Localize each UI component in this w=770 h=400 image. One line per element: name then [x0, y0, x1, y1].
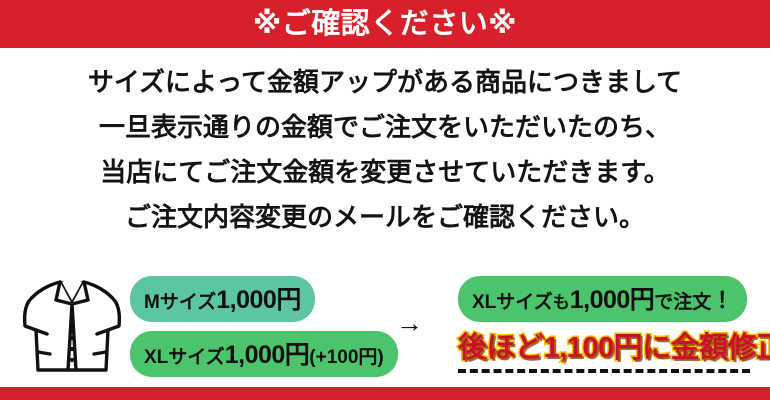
xl-size-amount: 1,000円: [225, 341, 310, 369]
dashed-underline: [458, 369, 750, 373]
notice-line-1: サイズによって金額アップがある商品につきまして: [0, 60, 770, 105]
xl-order-exclamation: ！: [711, 288, 733, 313]
after-price-badges: XLサイズも1,000円で注文！ 後ほど1,100円に金額修正: [458, 276, 758, 373]
size-price-notice-banner: ※ご確認ください※ サイズによって金額アップがある商品につきまして 一旦表示通り…: [0, 0, 770, 400]
xl-order-suffix: で注文: [654, 292, 711, 313]
notice-line-4: ご注文内容変更のメールをご確認ください。: [0, 195, 770, 240]
price-comparison-row: Mサイズ1,000円 XLサイズ1,000円(+100円) → XLサイズも1,…: [0, 266, 770, 378]
m-size-amount: 1,000円: [216, 286, 301, 314]
xl-order-badge: XLサイズも1,000円で注文！: [458, 276, 747, 322]
dress-shirt-icon: [16, 274, 128, 374]
xl-size-price-badge: XLサイズ1,000円(+100円): [130, 331, 398, 377]
xl-order-particle: も: [553, 293, 570, 312]
header-banner: ※ご確認ください※: [0, 0, 770, 48]
notice-line-3: 当店にてご注文金額を変更させていただきます。: [0, 150, 770, 195]
xl-size-label: XLサイズ: [144, 347, 225, 368]
xl-order-amount: 1,000円: [570, 286, 655, 314]
before-price-badges: Mサイズ1,000円 XLサイズ1,000円(+100円): [130, 276, 388, 377]
footer-bar: [0, 387, 770, 400]
xl-size-surcharge: (+100円): [309, 347, 383, 368]
notice-paragraph: サイズによって金額アップがある商品につきまして 一旦表示通りの金額でご注文をいた…: [0, 60, 770, 240]
price-correction-note: 後ほど1,100円に金額修正: [458, 332, 758, 365]
right-arrow-icon: →: [396, 310, 423, 337]
m-size-price-badge: Mサイズ1,000円: [130, 276, 315, 322]
header-title: ※ご確認ください※: [253, 10, 517, 39]
notice-line-2: 一旦表示通りの金額でご注文をいただいたのち、: [0, 105, 770, 150]
xl-order-size-label: XLサイズ: [472, 292, 553, 313]
m-size-label: Mサイズ: [144, 292, 216, 313]
